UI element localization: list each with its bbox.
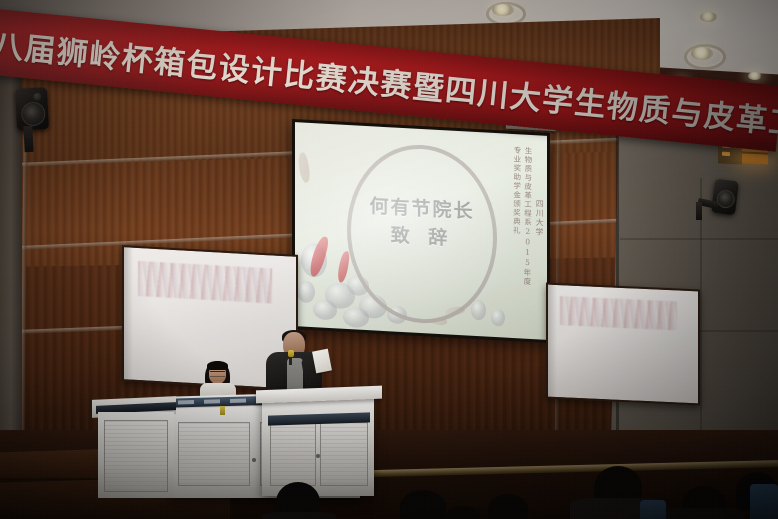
seated-host-bangs [207,361,228,370]
slide-vertical-line-1: 生物质与皮革工程系2015年度 [522,147,532,327]
podium [262,396,374,496]
slide-title-block: 何有节院长 致 辞 [363,194,481,254]
glasses-icon [210,371,225,377]
slide-stone-10 [491,309,505,327]
downlight-5 [700,12,717,22]
downlight-4 [691,47,713,60]
microphone-icon [288,350,294,357]
slide-stone-6 [313,299,337,320]
speaker-left-mount [23,126,33,152]
right-panel-seam-3 [620,238,778,240]
slide-vertical-text-group: 四川大学 生物质与皮革工程系2015年度 专业奖助学金颁奖典礼 [512,146,543,328]
projection-screen: 何有节院长 致 辞 四川大学 生物质与皮革工程系2015年度 专业奖助学金颁奖典… [292,119,550,343]
table-badge [220,406,225,415]
slide-stone-9 [471,300,486,321]
slide-koi-pale-1 [296,152,312,183]
slide-surface: 何有节院长 致 辞 四川大学 生物质与皮革工程系2015年度 专业奖助学金颁奖典… [295,122,547,340]
slide-speaker-name: 何有节院长 [369,195,474,223]
slide-stone-2 [297,280,315,303]
audience-body-5 [664,508,744,519]
audience-head-7 [446,506,480,519]
speaker-right-bracket [696,202,702,220]
auditorium-photo: 何有节院长 致 辞 四川大学 生物质与皮革工程系2015年度 专业奖助学金颁奖典… [0,0,778,519]
audience-head-3 [488,494,528,519]
whiteboard-right [546,283,700,406]
downlight-1 [492,4,514,16]
speaker-right [711,179,739,216]
control-console-body [98,412,174,498]
downlight-7 [748,72,762,80]
slide-stone-8 [343,307,369,328]
audience-body-1 [262,512,336,519]
audience-chair-center [640,500,666,519]
microphone-stem [289,356,292,365]
speaker-left [15,87,49,131]
slide-vertical-line-0: 四川大学 [534,199,544,327]
audience-chair-right [750,484,778,519]
slide-vertical-line-2: 专业奖助学金颁奖典礼 [511,146,521,326]
audience-head-2 [400,490,446,519]
